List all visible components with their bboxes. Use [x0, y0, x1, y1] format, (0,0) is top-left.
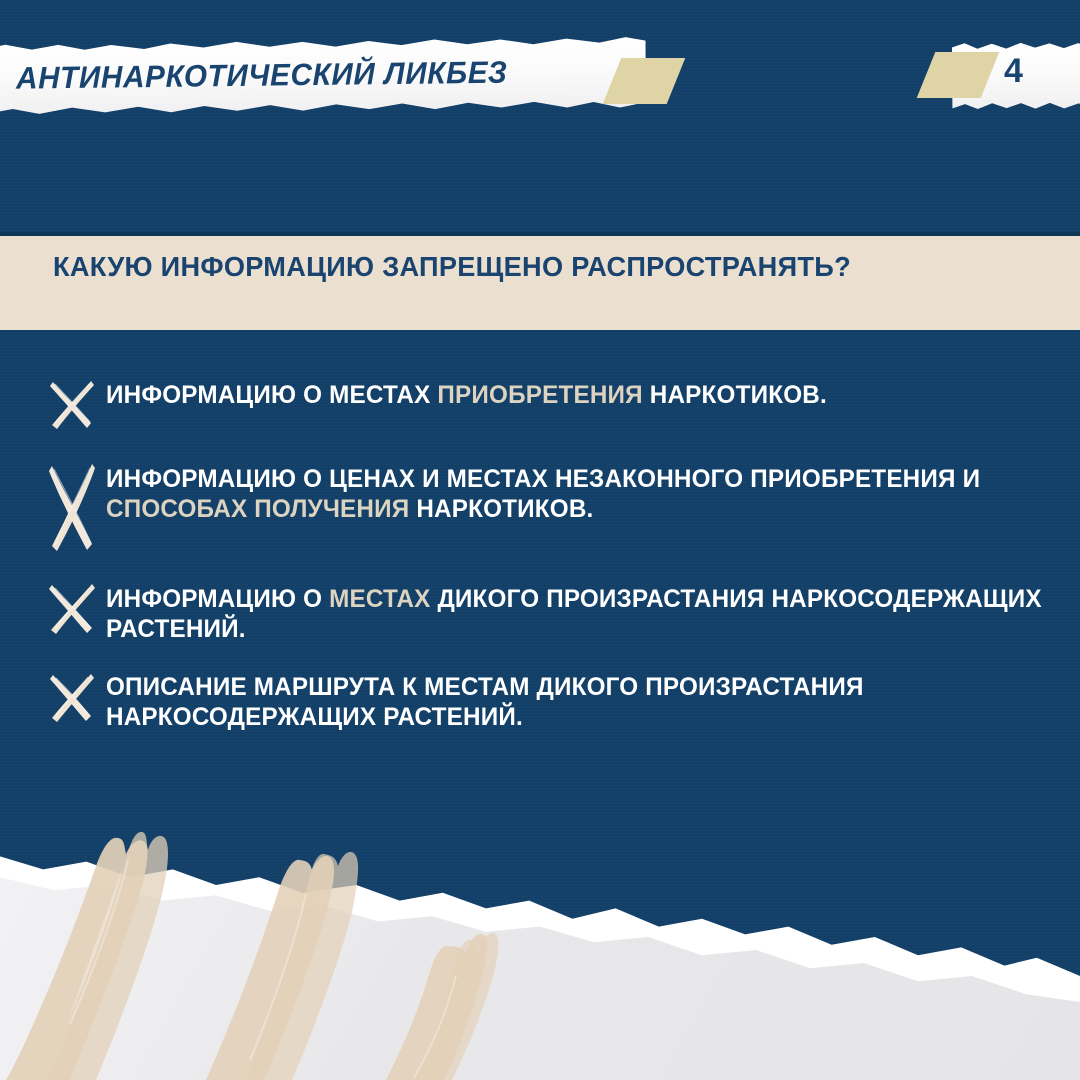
list-item: ИНФОРМАЦИЮ О МЕСТАХ ДИКОГО ПРОИЗРАСТАНИЯ… — [0, 582, 1080, 644]
list-item: ИНФОРМАЦИЮ О МЕСТАХ ПРИОБРЕТЕНИЯ НАРКОТИ… — [0, 378, 1080, 434]
text-segment: НАРКОТИКОВ. — [643, 381, 827, 409]
text-segment: ОПИСАНИЕ МАРШРУТА К МЕСТАМ ДИКОГО ПРОИЗР… — [106, 673, 864, 731]
list-item-text: ИНФОРМАЦИЮ О МЕСТАХ ДИКОГО ПРОИЗРАСТАНИЯ… — [106, 582, 1051, 644]
title-banner: АНТИНАРКОТИЧЕСКИЙ ЛИКБЕЗ — [0, 34, 646, 116]
list-item-text: ИНФОРМАЦИЮ О ЦЕНАХ И МЕСТАХ НЕЗАКОННОГО … — [106, 462, 1051, 524]
x-brush-mark-icon — [46, 666, 98, 726]
text-segment: ИНФОРМАЦИЮ О — [106, 585, 329, 613]
highlighted-phrase: СПОСОБАХ ПОЛУЧЕНИЯ — [106, 495, 409, 523]
text-segment: ИНФОРМАЦИЮ О МЕСТАХ — [106, 381, 437, 409]
x-brush-mark-icon — [46, 374, 98, 434]
x-brush-mark-icon — [46, 458, 98, 554]
x-brush-mark-icon — [46, 578, 98, 638]
list-item: ИНФОРМАЦИЮ О ЦЕНАХ И МЕСТАХ НЕЗАКОННОГО … — [0, 462, 1080, 554]
page-title: АНТИНАРКОТИЧЕСКИЙ ЛИКБЕЗ — [16, 44, 508, 108]
page-number: 4 — [1004, 52, 1023, 91]
text-segment: ИНФОРМАЦИЮ О ЦЕНАХ И МЕСТАХ НЕЗАКОННОГО … — [106, 465, 980, 493]
highlighted-phrase: МЕСТАХ — [329, 585, 430, 613]
highlighted-phrase: ПРИОБРЕТЕНИЯ — [437, 381, 642, 409]
list-item-text: ОПИСАНИЕ МАРШРУТА К МЕСТАМ ДИКОГО ПРОИЗР… — [106, 670, 1051, 732]
prohibited-info-list: ИНФОРМАЦИЮ О МЕСТАХ ПРИОБРЕТЕНИЯ НАРКОТИ… — [0, 378, 1080, 756]
slide-root: АНТИНАРКОТИЧЕСКИЙ ЛИКБЕЗ 4 КАКУЮ ИНФОРМА… — [0, 0, 1080, 1080]
text-segment: НАРКОТИКОВ. — [409, 495, 593, 523]
list-item: ОПИСАНИЕ МАРШРУТА К МЕСТАМ ДИКОГО ПРОИЗР… — [0, 670, 1080, 732]
question-band: КАКУЮ ИНФОРМАЦИЮ ЗАПРЕЩЕНО РАСПРОСТРАНЯТ… — [0, 232, 1080, 330]
question-heading: КАКУЮ ИНФОРМАЦИЮ ЗАПРЕЩЕНО РАСПРОСТРАНЯТ… — [53, 250, 1023, 284]
brush-strokes-decoration — [0, 820, 560, 1080]
bottom-torn-paper — [0, 820, 1080, 1080]
list-item-text: ИНФОРМАЦИЮ О МЕСТАХ ПРИОБРЕТЕНИЯ НАРКОТИ… — [106, 378, 1051, 410]
header: АНТИНАРКОТИЧЕСКИЙ ЛИКБЕЗ 4 — [0, 0, 1080, 160]
